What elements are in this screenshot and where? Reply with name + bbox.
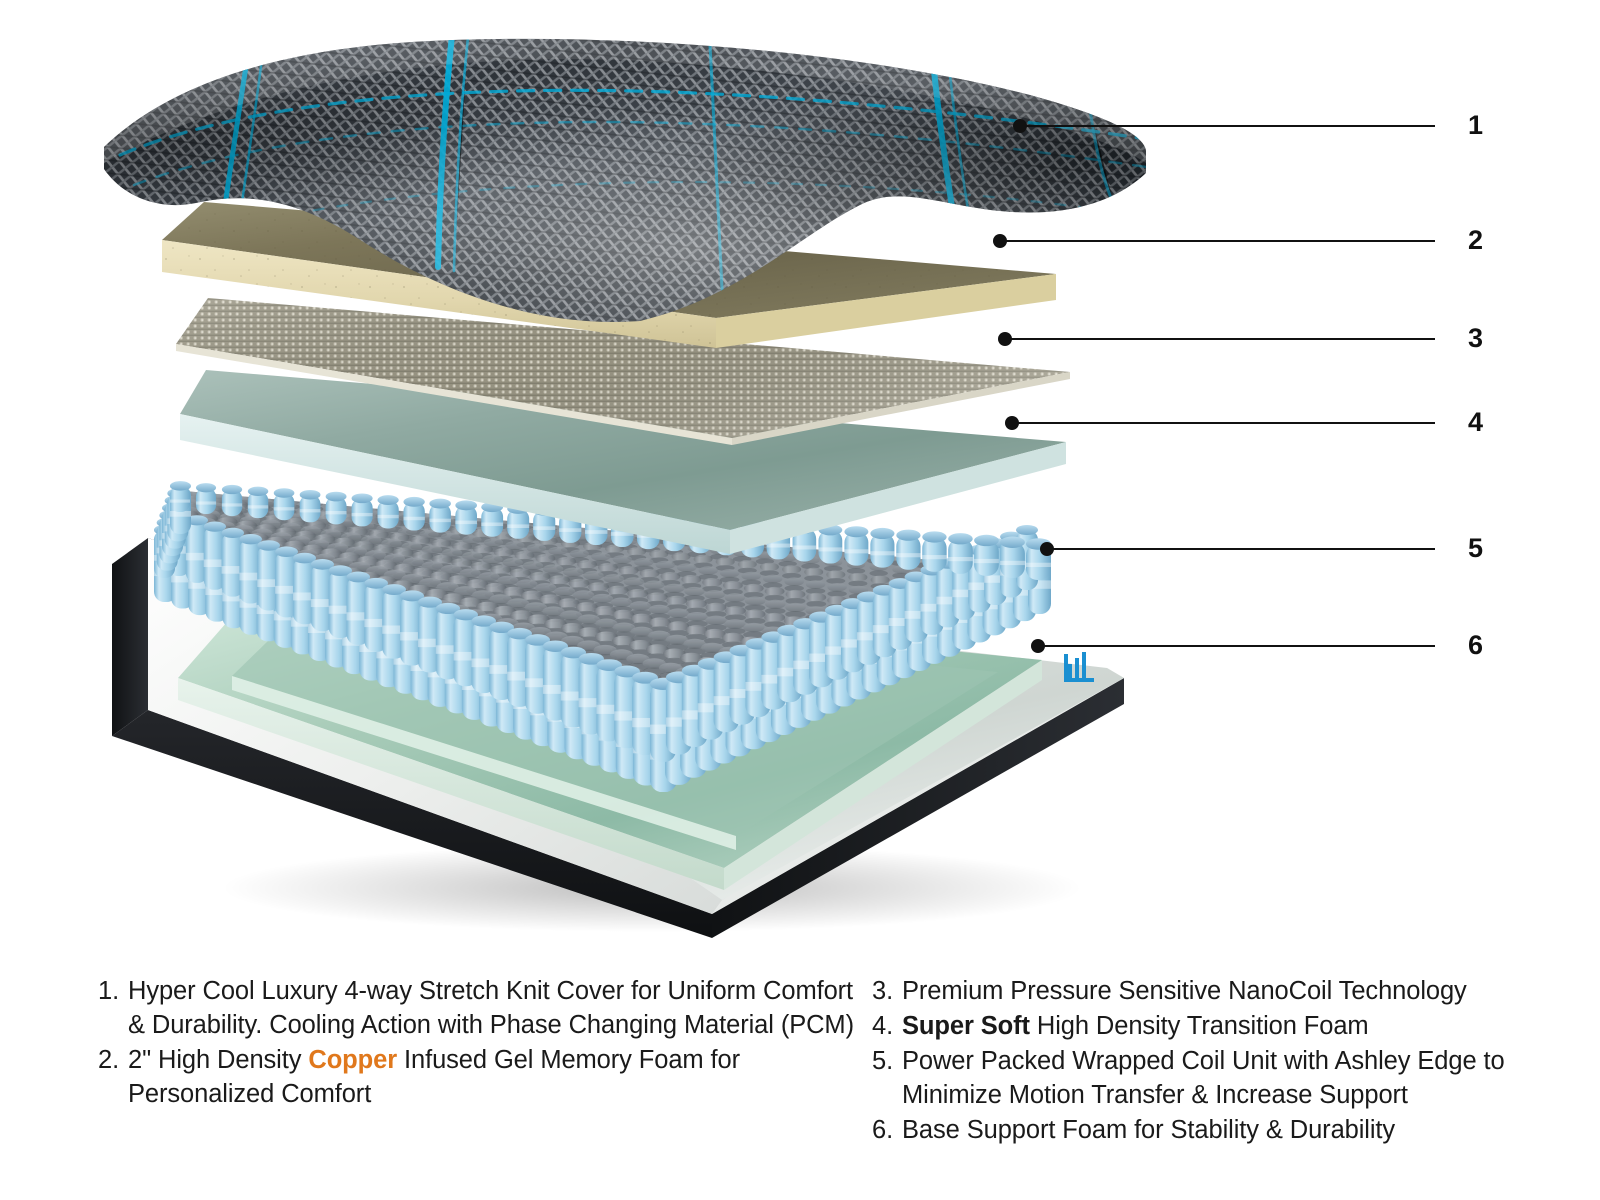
legend-text-run: Hyper Cool Luxury 4-way Stretch Knit Cov… — [128, 977, 854, 1039]
legend-text-run: High Density Transition Foam — [1030, 1012, 1369, 1040]
nano-coil-top — [786, 590, 806, 599]
nano-coil-top — [630, 601, 651, 610]
callout-number-5: 5 — [1468, 535, 1483, 562]
nano-coil-top — [723, 581, 743, 590]
nano-coil-shadow — [848, 581, 867, 587]
nano-coil-top — [515, 551, 535, 560]
layer-1-hyper-cool-knit-cover — [100, 35, 1150, 330]
nano-coil-top — [806, 580, 825, 589]
nano-coil-top — [705, 616, 726, 625]
exploded-mattress-illustration: 123456 — [0, 0, 1600, 960]
nano-coil-top — [644, 581, 664, 590]
callout-number-1: 1 — [1468, 112, 1483, 139]
nano-coil-top — [536, 554, 556, 563]
nano-coil-top — [684, 587, 704, 596]
nano-coil-top — [764, 613, 785, 622]
legend-item-number: 3. — [872, 975, 902, 1009]
nano-coil-top — [745, 610, 766, 619]
legend: 1.Hyper Cool Luxury 4-way Stretch Knit C… — [0, 975, 1600, 1200]
nano-coil-top — [647, 592, 668, 601]
nano-coil-top — [765, 600, 785, 609]
callout-line-4 — [1012, 422, 1435, 424]
mattress-construction-diagram: 123456 1.Hyper Cool Luxury 4-way Stretch… — [0, 0, 1600, 1200]
callout-dot-4 — [1005, 416, 1019, 430]
callout-dot-6 — [1031, 639, 1045, 653]
legend-item-text: 2" High Density Copper Infused Gel Memor… — [128, 1044, 858, 1112]
legend-text-run: Power Packed Wrapped Coil Unit with Ashl… — [902, 1047, 1505, 1109]
legend-item-number: 5. — [872, 1045, 902, 1079]
legend-item-text: Premium Pressure Sensitive NanoCoil Tech… — [902, 975, 1572, 1009]
nano-coil-top — [725, 593, 745, 602]
legend-text-run: 2" High Density — [128, 1046, 308, 1074]
nano-coil-top — [725, 606, 746, 615]
legend-text-run: Base Support Foam for Stability & Durabi… — [902, 1116, 1395, 1144]
nano-coil-top — [699, 566, 718, 575]
nano-coil-top — [592, 594, 613, 603]
nano-coil-top — [745, 597, 765, 606]
nano-coil-top — [627, 589, 648, 598]
callout-number-3: 3 — [1468, 325, 1483, 352]
nano-coil-top — [668, 608, 689, 617]
nano-coil-top — [573, 590, 594, 599]
nano-coil-top — [848, 573, 867, 581]
nano-coil-top — [535, 583, 556, 592]
nano-coil-top — [785, 603, 805, 612]
nano-coil-top — [570, 550, 589, 559]
nano-coil-top — [672, 552, 691, 560]
nano-coil-top — [569, 579, 590, 588]
nano-coil-top — [611, 598, 632, 607]
callout-dot-2 — [993, 234, 1007, 248]
legend-item-number: 2. — [98, 1044, 128, 1078]
nano-coil-top — [667, 596, 688, 605]
legend-item-number: 6. — [872, 1114, 902, 1148]
nano-coil-top — [577, 560, 597, 569]
legend-item-2: 2.2" High Density Copper Infused Gel Mem… — [98, 1044, 858, 1112]
nano-coil-shadow — [826, 578, 845, 584]
nano-coil-top — [827, 583, 846, 592]
legend-item-text: Super Soft High Density Transition Foam — [902, 1010, 1572, 1044]
nano-coil-top — [619, 566, 639, 575]
nano-coil-top — [640, 569, 660, 578]
nano-coil-top — [598, 563, 618, 572]
nano-coil-shadow — [827, 591, 846, 597]
nano-coil-top — [738, 560, 757, 568]
nano-coil-top — [591, 552, 610, 561]
nano-coil-top — [687, 612, 708, 621]
nano-coil-top — [661, 572, 681, 581]
callout-number-2: 2 — [1468, 227, 1483, 254]
bold-highlight: Super Soft — [902, 1012, 1030, 1040]
legend-item-1: 1.Hyper Cool Luxury 4-way Stretch Knit C… — [98, 975, 858, 1043]
nano-coil-top — [556, 557, 576, 566]
callout-dot-1 — [1013, 119, 1027, 133]
nano-coil-top — [804, 568, 823, 576]
nano-coil-top — [720, 569, 739, 578]
nano-coil-shadow — [870, 570, 888, 576]
callout-number-4: 4 — [1468, 409, 1483, 436]
nano-coil-top — [686, 599, 707, 608]
nano-coil-top — [806, 593, 826, 602]
nano-coil-top — [627, 547, 646, 555]
nano-coil-top — [510, 569, 531, 578]
legend-item-text: Base Support Foam for Stability & Durabi… — [902, 1114, 1572, 1148]
nano-coil-top — [604, 574, 624, 583]
legend-item-number: 1. — [98, 975, 128, 1009]
copper-highlight: Copper — [308, 1046, 397, 1074]
nano-coil-top — [588, 582, 609, 591]
knit-cover-shape — [100, 35, 1150, 330]
legend-item-number: 4. — [872, 1010, 902, 1044]
nano-coil-top — [634, 558, 653, 567]
nano-coil-top — [763, 575, 782, 584]
nano-coil-top — [608, 586, 629, 595]
legend-column-left: 1.Hyper Cool Luxury 4-way Stretch Knit C… — [98, 975, 858, 1113]
callout-number-6: 6 — [1468, 632, 1483, 659]
nano-coil-top — [871, 576, 890, 584]
callout-line-1 — [1020, 125, 1435, 127]
legend-item-4: 4.Super Soft High Density Transition Foa… — [872, 1010, 1572, 1044]
nano-coil-top — [613, 555, 632, 564]
legend-item-5: 5.Power Packed Wrapped Coil Unit with As… — [872, 1045, 1572, 1113]
nano-coil-top — [530, 572, 551, 581]
legend-item-6: 6.Base Support Foam for Stability & Dura… — [872, 1114, 1572, 1148]
nano-coil-top — [744, 584, 764, 593]
nano-coil-shadow — [824, 566, 842, 572]
nano-coil-top — [785, 577, 804, 586]
nano-coil-top — [760, 563, 779, 571]
nano-coil-top — [543, 564, 563, 573]
nano-coil-top — [765, 587, 785, 596]
nano-coil-top — [694, 555, 713, 563]
nano-coil-top — [826, 570, 845, 578]
nano-coil-top — [724, 619, 745, 628]
nano-coil-top — [624, 577, 644, 586]
nano-coil-top — [583, 571, 603, 580]
nano-coil-top — [743, 623, 764, 632]
legend-item-3: 3.Premium Pressure Sensitive NanoCoil Te… — [872, 975, 1572, 1009]
callout-line-6 — [1038, 645, 1435, 647]
legend-item-text: Hyper Cool Luxury 4-way Stretch Knit Cov… — [128, 975, 858, 1043]
callout-line-5 — [1047, 548, 1435, 550]
legend-column-right: 3.Premium Pressure Sensitive NanoCoil Te… — [872, 975, 1572, 1149]
nano-coil-top — [656, 561, 675, 570]
nano-coil-top — [523, 561, 543, 570]
callout-dot-5 — [1040, 542, 1054, 556]
nano-coil-top — [681, 575, 701, 584]
nano-coil-top — [649, 605, 670, 614]
nano-coil-top — [563, 568, 583, 577]
nano-coil-top — [677, 563, 696, 572]
nano-coil-top — [702, 578, 722, 587]
nano-coil-top — [742, 572, 761, 581]
nano-coil-top — [664, 584, 684, 593]
nano-coil-top — [782, 565, 801, 573]
callout-dot-3 — [998, 332, 1012, 346]
edge-support-left-face — [112, 538, 148, 736]
nano-coil-shadow — [847, 568, 865, 574]
callout-line-2 — [1000, 240, 1435, 242]
nano-coil-top — [705, 590, 725, 599]
legend-item-text: Power Packed Wrapped Coil Unit with Ashl… — [902, 1045, 1572, 1113]
nano-coil-top — [706, 603, 727, 612]
nano-coil-top — [554, 587, 575, 596]
nano-coil-top — [716, 558, 735, 566]
nano-coil-top — [549, 575, 570, 584]
nano-coil-top — [516, 579, 537, 588]
callout-line-3 — [1005, 338, 1435, 340]
legend-text-run: Premium Pressure Sensitive NanoCoil Tech… — [902, 977, 1467, 1005]
nano-coil-top — [649, 550, 668, 558]
